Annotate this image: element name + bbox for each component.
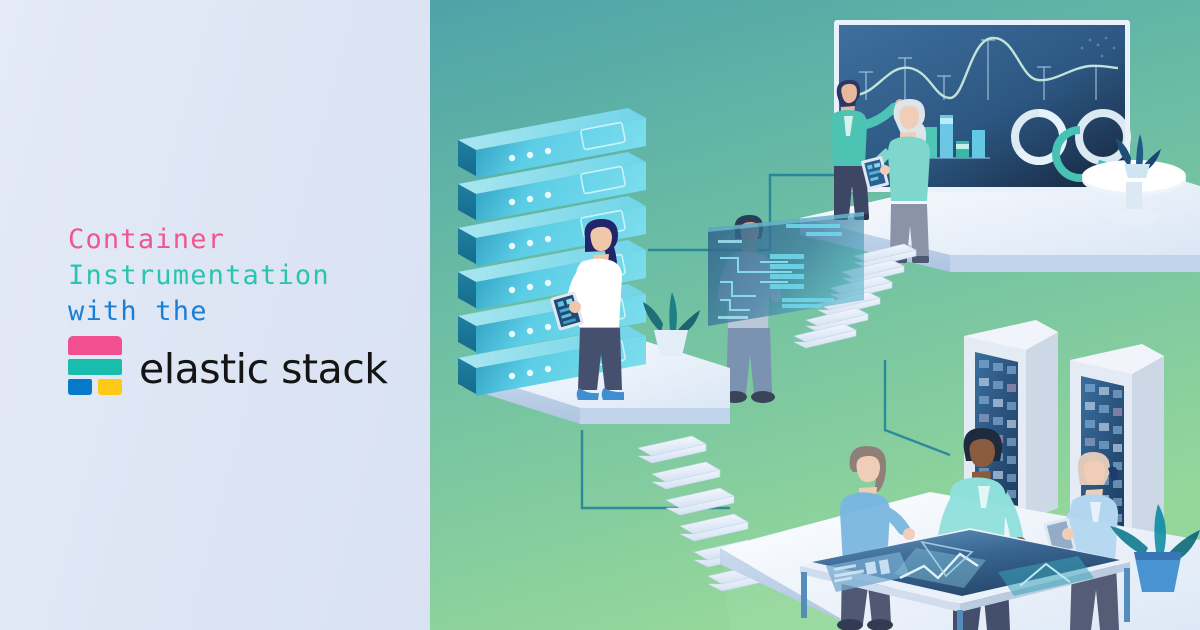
logo-teal-bar-icon: [68, 359, 122, 375]
logo-pink-bar-icon: [68, 336, 122, 355]
poster-canvas: Container Instrumentation with the elast…: [0, 0, 1200, 630]
logo-blue-bar-icon: [68, 379, 92, 395]
title-line-1: Container: [68, 222, 408, 258]
logo-wordmark: elastic stack: [139, 345, 388, 393]
elastic-stack-logo: elastic stack: [68, 336, 388, 398]
hero-illustration: [430, 0, 1200, 630]
page-title: Container Instrumentation with the: [68, 222, 408, 330]
illustration-svg: [430, 0, 1200, 630]
title-line-2: Instrumentation: [68, 258, 408, 294]
elastic-logo-icon: [68, 336, 122, 398]
logo-yellow-bar-icon: [98, 379, 122, 395]
title-line-3: with the: [68, 294, 408, 330]
left-text-panel: Container Instrumentation with the elast…: [0, 0, 430, 630]
